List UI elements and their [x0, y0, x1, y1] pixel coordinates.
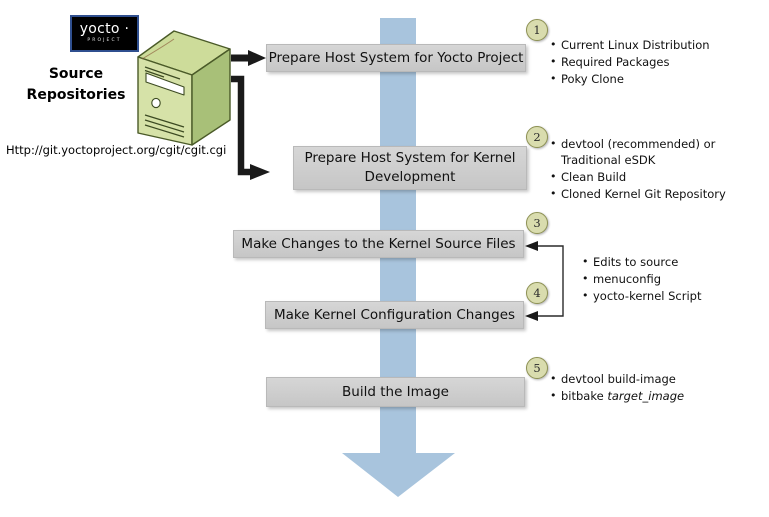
process-box-step-5[interactable]: Build the Image — [266, 377, 525, 407]
list-item: Clean Build — [561, 169, 763, 185]
bullet-list-step-5: devtool build-image bitbake target_image — [548, 371, 763, 405]
list-item: Current Linux Distribution — [561, 37, 763, 53]
list-item: devtool build-image — [561, 371, 763, 387]
bullet-list-step-2: devtool (recommended) or Traditional eSD… — [548, 136, 763, 203]
step-badge-5: 5 — [526, 357, 548, 379]
step-badge-4: 4 — [526, 282, 548, 304]
process-box-step-1-label: Prepare Host System for Yocto Project — [269, 49, 524, 68]
step-badge-3: 3 — [526, 212, 548, 234]
list-item: bitbake target_image — [561, 388, 763, 404]
bullet-list-step-1: Current Linux Distribution Required Pack… — [548, 37, 763, 88]
list-item: Cloned Kernel Git Repository — [561, 186, 763, 202]
process-box-step-3-label: Make Changes to the Kernel Source Files — [241, 235, 515, 254]
bitbake-target-image-arg: target_image — [607, 389, 684, 403]
list-item: Required Packages — [561, 54, 763, 70]
process-box-step-2-label: Prepare Host System for Kernel Developme… — [294, 149, 526, 187]
process-box-step-3[interactable]: Make Changes to the Kernel Source Files — [233, 230, 524, 258]
step-badge-2: 2 — [526, 126, 548, 148]
process-box-step-4[interactable]: Make Kernel Configuration Changes — [265, 301, 524, 329]
process-box-step-5-label: Build the Image — [342, 383, 449, 402]
list-item: Poky Clone — [561, 71, 763, 87]
bullet-list-steps-3-and-4: Edits to source menuconfig yocto-kernel … — [580, 254, 765, 305]
list-item: devtool (recommended) or Traditional eSD… — [561, 136, 763, 168]
list-item: menuconfig — [593, 271, 765, 287]
process-box-step-2[interactable]: Prepare Host System for Kernel Developme… — [293, 146, 527, 190]
step-badge-1: 1 — [526, 19, 548, 41]
list-item: Edits to source — [593, 254, 765, 270]
list-item: yocto-kernel Script — [593, 288, 765, 304]
process-box-step-4-label: Make Kernel Configuration Changes — [274, 306, 515, 325]
diagram-canvas: yocto · PROJECT Source Repositories Http… — [0, 0, 769, 517]
process-box-step-1[interactable]: Prepare Host System for Yocto Project — [266, 44, 526, 72]
bitbake-command-prefix: bitbake — [561, 389, 607, 403]
